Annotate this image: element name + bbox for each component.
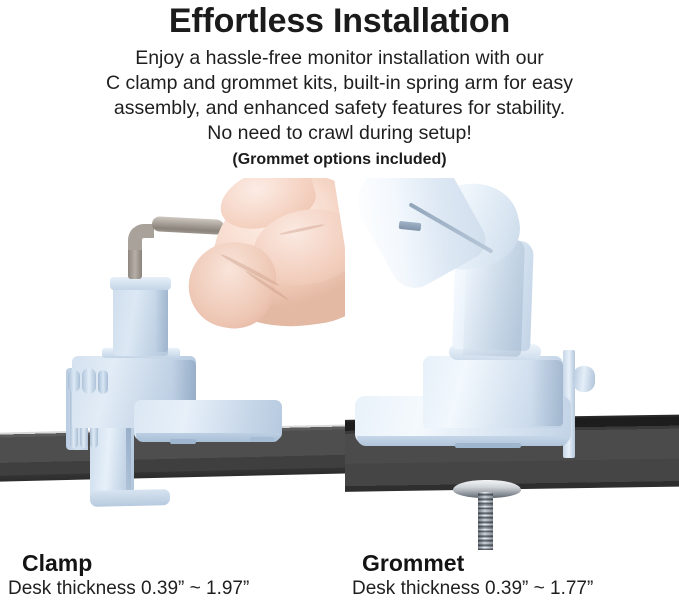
grommet-locking-peg [573, 366, 595, 392]
header-block: Effortless Installation Enjoy a hassle-f… [0, 0, 679, 171]
grommet-options-note: (Grommet options included) [0, 149, 679, 171]
description-line: No need to crawl during setup! [0, 121, 679, 146]
grommet-caption-title: Grommet [362, 550, 593, 577]
grommet-shelf-foot [455, 443, 521, 448]
product-photo-stage [0, 178, 679, 550]
grommet-caption: Grommet Desk thickness 0.39” ~ 1.77” [362, 550, 593, 601]
caption-row: Clamp Desk thickness 0.39” ~ 1.97” Gromm… [0, 550, 679, 611]
description-line: Enjoy a hassle-free monitor installation… [0, 46, 679, 71]
clamp-knob [82, 368, 96, 394]
clamp-post-collar [110, 277, 171, 290]
grommet-head-shading [531, 360, 563, 426]
infographic-page: Effortless Installation Enjoy a hassle-f… [0, 0, 679, 611]
hand-gripping-wrench [183, 178, 345, 356]
clamp-caption-title: Clamp [22, 550, 249, 577]
grommet-threaded-screw [478, 492, 493, 550]
description-line: assembly, and enhanced safety features f… [0, 96, 679, 121]
clamp-post-shading [155, 286, 168, 352]
description-paragraph: Enjoy a hassle-free monitor installation… [0, 46, 679, 146]
clamp-shelf-foot [250, 437, 274, 442]
grommet-photo-panel [345, 178, 679, 550]
clamp-caption: Clamp Desk thickness 0.39” ~ 1.97” [22, 550, 249, 601]
clamp-caption-subtitle: Desk thickness 0.39” ~ 1.97” [8, 577, 249, 601]
clamp-knob [98, 370, 108, 394]
page-title: Effortless Installation [0, 0, 679, 41]
clamp-shelf-foot [170, 439, 196, 444]
clamp-c-jaw-bottom [90, 489, 170, 507]
hex-key-elbow [128, 224, 154, 250]
grommet-caption-subtitle: Desk thickness 0.39” ~ 1.77” [352, 577, 593, 601]
clamp-knob [68, 370, 80, 392]
description-line: C clamp and grommet kits, built-in sprin… [0, 71, 679, 96]
clamp-photo-panel [0, 178, 345, 550]
